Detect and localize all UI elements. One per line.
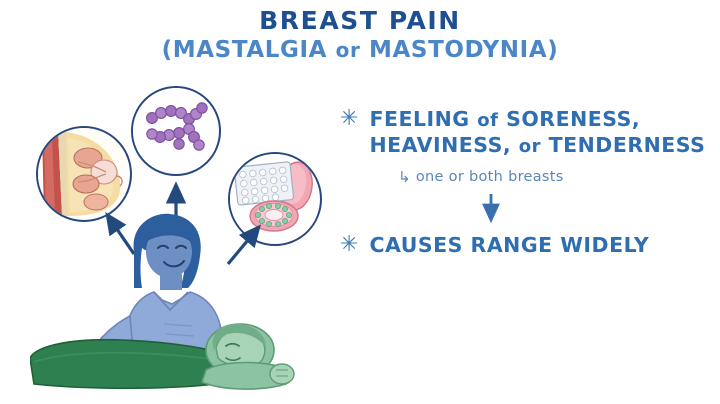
subtitle-close: MASTODYNIA) — [360, 37, 558, 63]
bullet1-line1b: SORENESS, — [498, 107, 640, 131]
infographic-canvas: BREAST PAIN (MASTALGIA or MASTODYNIA) — [0, 0, 720, 404]
bullet1-line2a: HEAVINESS, — [369, 133, 518, 157]
flow-down-arrow-icon — [480, 192, 502, 228]
clinician-and-patient-illustration — [30, 200, 310, 400]
page-title: BREAST PAIN — [0, 8, 720, 35]
bullet1-line1a: FEELING — [369, 107, 477, 131]
asterisk-bullet-icon: ✳ — [340, 108, 358, 130]
bullet1-line2b: TENDERNESS — [541, 133, 705, 157]
callout-circle-hormone — [131, 86, 221, 176]
bullet-causes-text: CAUSES RANGE WIDELY — [369, 232, 649, 258]
subnote-one-or-both-breasts: ↳ one or both breasts — [398, 168, 564, 186]
bullet-feeling-text: FEELING of SORENESS,HEAVINESS, or TENDER… — [369, 106, 705, 158]
bullet1-line1lc: of — [477, 110, 498, 131]
subtitle-open: (MASTALGIA — [162, 37, 336, 63]
bullet-causes: ✳ CAUSES RANGE WIDELY — [340, 232, 710, 258]
asterisk-bullet-icon: ✳ — [340, 234, 358, 256]
subnote-text: one or both breasts — [416, 169, 564, 185]
subtitle-conjunction: or — [336, 38, 361, 62]
hormone-molecule-icon — [133, 88, 215, 170]
bullet1-line2lc: or — [519, 136, 541, 157]
subnote-arrow-icon: ↳ — [398, 168, 411, 186]
bullet-feeling: ✳ FEELING of SORENESS,HEAVINESS, or TEND… — [340, 106, 710, 158]
title-block: BREAST PAIN (MASTALGIA or MASTODYNIA) — [0, 8, 720, 62]
page-subtitle: (MASTALGIA or MASTODYNIA) — [0, 38, 720, 62]
